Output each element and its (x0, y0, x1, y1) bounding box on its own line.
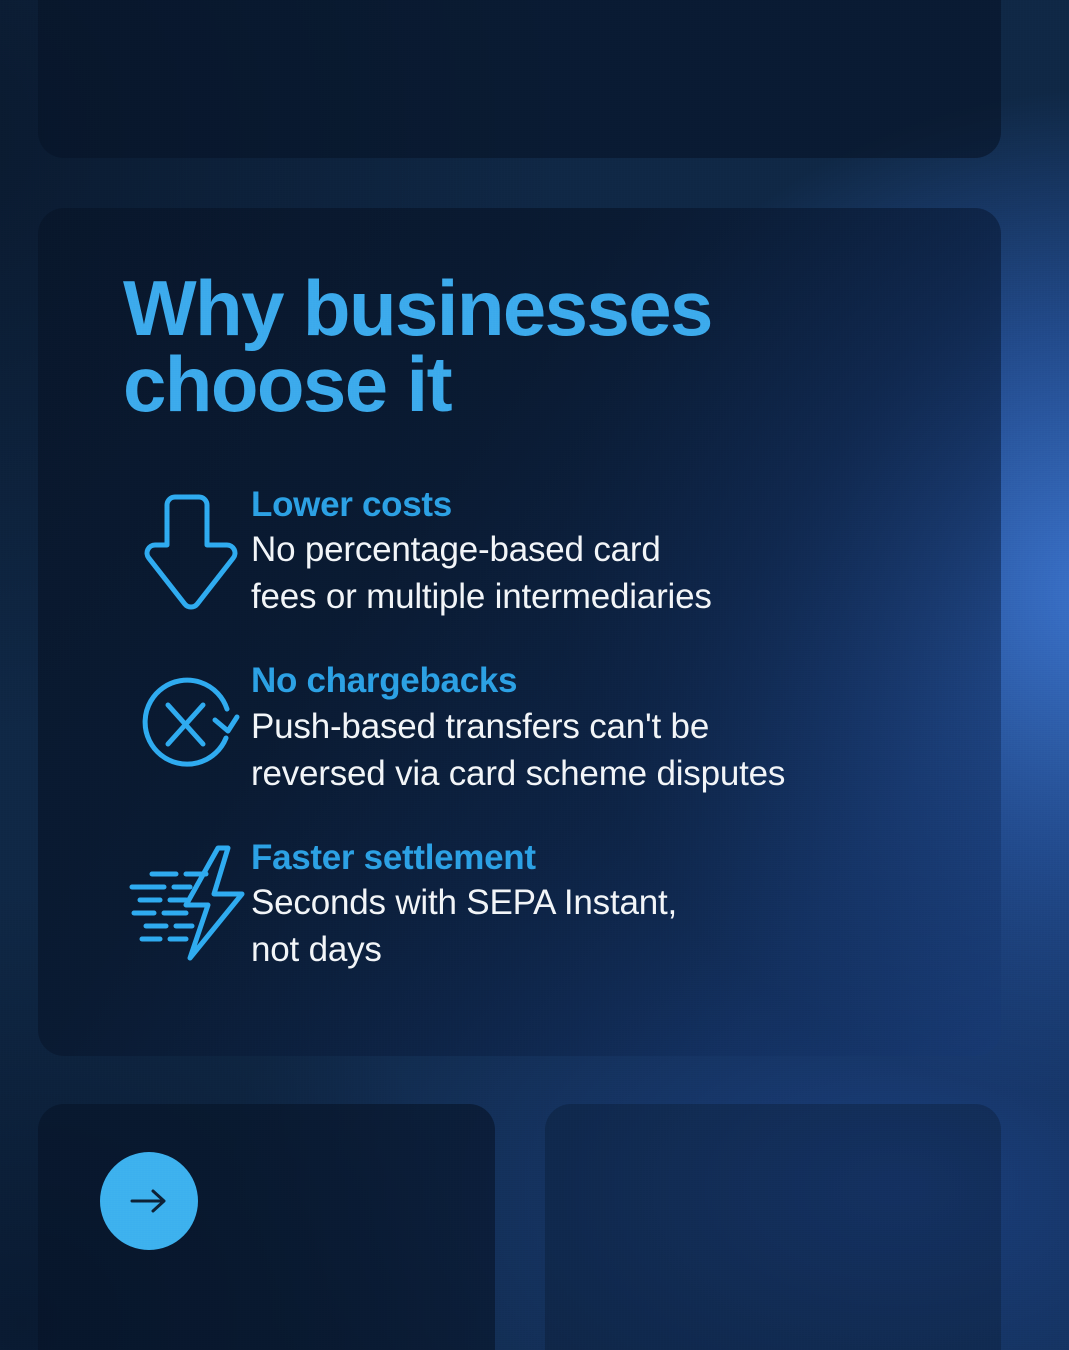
feature-title: Lower costs (251, 485, 981, 526)
feature-item-faster-settlement: Faster settlement Seconds with SEPA Inst… (123, 836, 981, 974)
arrow-down-icon (123, 483, 251, 617)
next-slide-button[interactable] (100, 1152, 198, 1250)
feature-description: Push-based transfers can't be reversed v… (251, 704, 981, 798)
feature-card-content: Why businesses choose it Lower costs No … (123, 270, 981, 1036)
feature-text-lower-costs: Lower costs No percentage-based card fee… (251, 483, 981, 621)
feature-title: Faster settlement (251, 838, 981, 879)
lightning-speed-icon (123, 836, 251, 964)
feature-item-lower-costs: Lower costs No percentage-based card fee… (123, 483, 981, 621)
page-title: Why businesses choose it (123, 270, 981, 423)
feature-title: No chargebacks (251, 661, 981, 702)
feature-text-no-chargebacks: No chargebacks Push-based transfers can'… (251, 659, 981, 797)
arrow-right-icon (126, 1184, 172, 1218)
promo-slide: Why businesses choose it Lower costs No … (0, 0, 1069, 1350)
feature-list: Lower costs No percentage-based card fee… (123, 483, 981, 974)
feature-item-no-chargebacks: No chargebacks Push-based transfers can'… (123, 659, 981, 797)
no-chargeback-icon (123, 659, 251, 785)
feature-description: Seconds with SEPA Instant, not days (251, 880, 981, 974)
feature-description: No percentage-based card fees or multipl… (251, 527, 981, 621)
feature-text-faster-settlement: Faster settlement Seconds with SEPA Inst… (251, 836, 981, 974)
feature-card: Why businesses choose it Lower costs No … (38, 208, 1001, 1056)
